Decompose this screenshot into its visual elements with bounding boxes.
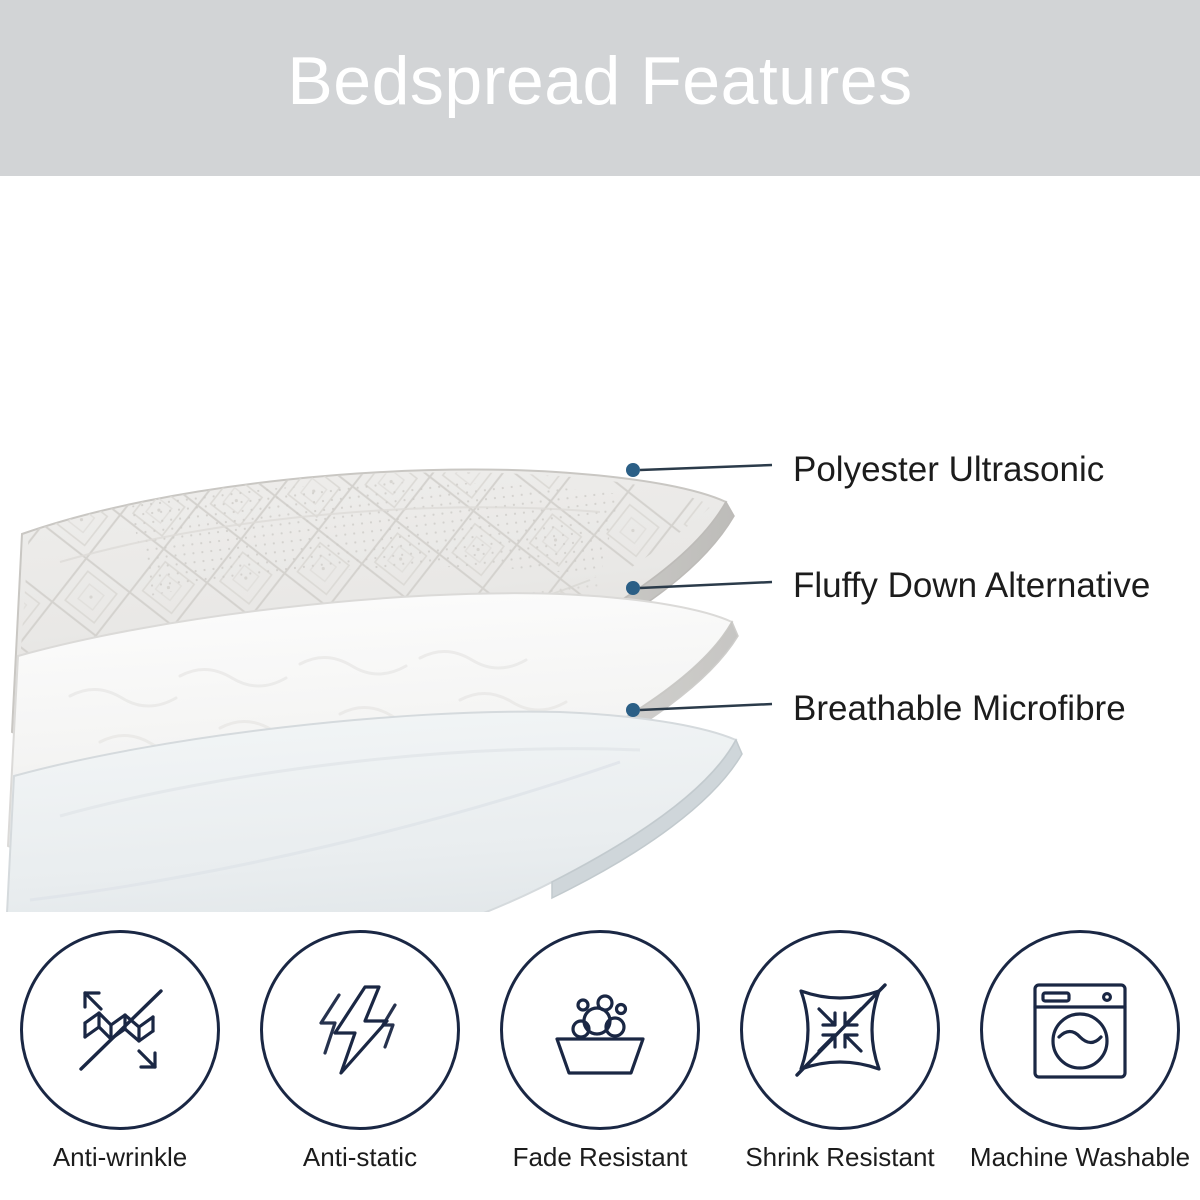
feature-label: Fade Resistant	[513, 1144, 688, 1170]
feature-fade-resistant: Fade Resistant	[480, 930, 720, 1200]
feature-circle	[740, 930, 940, 1130]
feature-machine-washable: Machine Washable	[960, 930, 1200, 1200]
feature-anti-static: Anti-static	[240, 930, 480, 1200]
header-band: Bedspread Features	[0, 0, 1200, 176]
callout-dot-2	[626, 581, 640, 595]
feature-label: Machine Washable	[970, 1144, 1190, 1170]
callout-label-polyester-ultrasonic: Polyester Ultrasonic	[793, 452, 1104, 487]
feature-circle	[260, 930, 460, 1130]
callout-label-breathable-microfibre: Breathable Microfibre	[793, 691, 1126, 726]
callout-label-fluffy-down-alternative: Fluffy Down Alternative	[793, 568, 1150, 603]
fade-resistant-icon	[535, 965, 665, 1095]
feature-icons-row: Anti-wrinkle Anti-static	[0, 930, 1200, 1200]
feature-anti-wrinkle: Anti-wrinkle	[0, 930, 240, 1200]
feature-label: Anti-wrinkle	[53, 1144, 187, 1170]
machine-washable-icon	[1015, 965, 1145, 1095]
feature-shrink-resistant: Shrink Resistant	[720, 930, 960, 1200]
shrink-resistant-icon	[775, 965, 905, 1095]
anti-static-icon	[295, 965, 425, 1095]
feature-circle	[980, 930, 1180, 1130]
feature-label: Anti-static	[303, 1144, 417, 1170]
feature-circle	[500, 930, 700, 1130]
page-title: Bedspread Features	[287, 47, 912, 129]
callout-dot-1	[626, 463, 640, 477]
anti-wrinkle-icon	[55, 965, 185, 1095]
callout-dot-3	[626, 703, 640, 717]
bedspread-layers-svg	[0, 176, 1200, 912]
feature-circle	[20, 930, 220, 1130]
feature-label: Shrink Resistant	[745, 1144, 934, 1170]
product-feature-infographic: Bedspread Features	[0, 0, 1200, 1200]
layers-illustration: Polyester Ultrasonic Fluffy Down Alterna…	[0, 176, 1200, 912]
